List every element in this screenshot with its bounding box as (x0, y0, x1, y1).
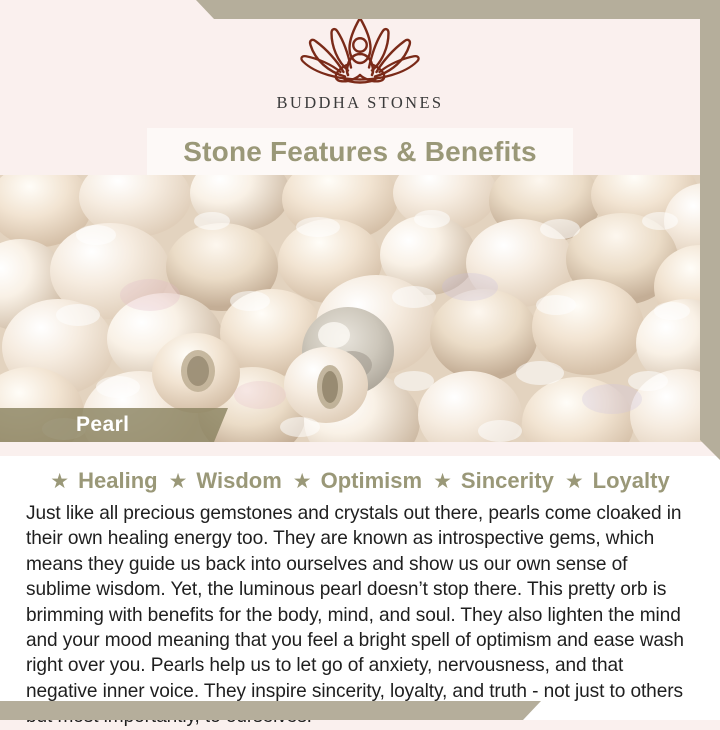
star-icon: ★ (293, 471, 312, 492)
benefit-wisdom: ★ Wisdom (169, 468, 282, 494)
benefit-label: Wisdom (196, 468, 281, 494)
benefits-list: ★ Healing ★ Wisdom ★ Optimism ★ Sincerit… (26, 468, 694, 494)
lotus-meditation-icon (285, 15, 435, 89)
brand-name: BUDDHA STONES (276, 93, 443, 113)
star-icon: ★ (169, 471, 188, 492)
benefit-label: Healing (78, 468, 157, 494)
star-icon: ★ (433, 471, 452, 492)
benefit-label: Optimism (321, 468, 422, 494)
brand-header: BUDDHA STONES (0, 0, 720, 128)
benefit-loyalty: ★ Loyalty (565, 468, 670, 494)
title-banner: Stone Features & Benefits (147, 128, 573, 175)
stone-name-badge: Pearl (0, 408, 228, 442)
content-panel: ★ Healing ★ Wisdom ★ Optimism ★ Sincerit… (0, 442, 720, 720)
stone-name: Pearl (76, 413, 129, 437)
benefit-label: Sincerity (461, 468, 554, 494)
benefit-optimism: ★ Optimism (293, 468, 422, 494)
star-icon: ★ (565, 471, 584, 492)
benefit-healing: ★ Healing (50, 468, 157, 494)
benefit-label: Loyalty (593, 468, 670, 494)
description-text: Just like all precious gemstones and cry… (26, 501, 694, 730)
star-icon: ★ (50, 471, 69, 492)
pearl-photo (0, 175, 720, 442)
page-title: Stone Features & Benefits (183, 136, 537, 168)
benefit-sincerity: ★ Sincerity (433, 468, 554, 494)
decorative-bar-right (700, 0, 720, 460)
